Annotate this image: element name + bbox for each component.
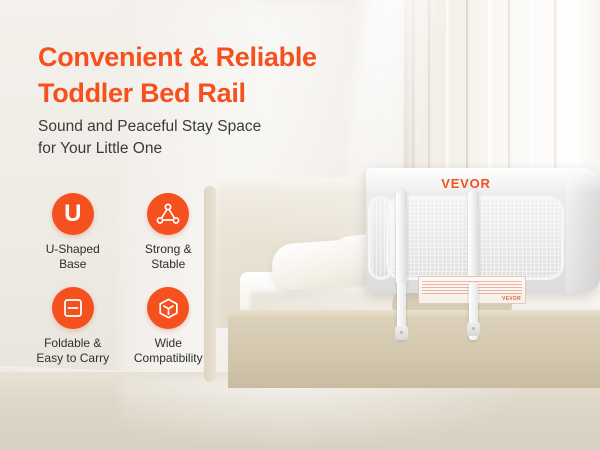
headline: Convenient & Reliable Toddler Bed Rail [38,40,378,111]
feature-label: Strong & Stable [145,242,192,271]
feature-strong-stable: Strong & Stable [124,193,214,271]
floor-light-reflection [120,378,540,450]
bed-rail-post-left [396,190,407,286]
subheadline-line-2: for Your Little One [38,138,338,160]
feature-label: U-Shaped Base [46,242,100,271]
headline-line-1: Convenient & Reliable [38,40,378,76]
subheadline: Sound and Peaceful Stay Space for Your L… [38,116,338,161]
triangle-nodes-icon [147,193,189,235]
headline-line-2: Toddler Bed Rail [38,76,378,112]
u-shape-icon: U [52,193,94,235]
feature-label: Wide Compatibility [134,336,203,365]
bed-rail-post-right [468,190,479,286]
bed-rail-foot-left [395,326,408,340]
subheadline-line-1: Sound and Peaceful Stay Space [38,116,338,138]
bed-base-top-edge [228,310,600,320]
bed-rail-brand-logo: VEVOR [426,176,506,191]
feature-foldable: Foldable & Easy to Carry [28,287,118,365]
u-shape-glyph: U [64,202,81,226]
product-marketing-banner: VEVOR VEVOR Convenient & Reliable Toddle… [0,0,600,450]
feature-u-shaped-base: U U-Shaped Base [28,193,118,271]
foldable-icon [52,287,94,329]
feature-label: Foldable & Easy to Carry [36,336,109,365]
feature-grid: U U-Shaped Base Strong & Stable [28,193,213,366]
sticker-brand-label: VEVOR [502,296,521,302]
bed-rail-foot-right [467,322,480,336]
cube-icon [147,287,189,329]
feature-wide-compatibility: Wide Compatibility [124,287,214,365]
bed-base [228,310,600,388]
